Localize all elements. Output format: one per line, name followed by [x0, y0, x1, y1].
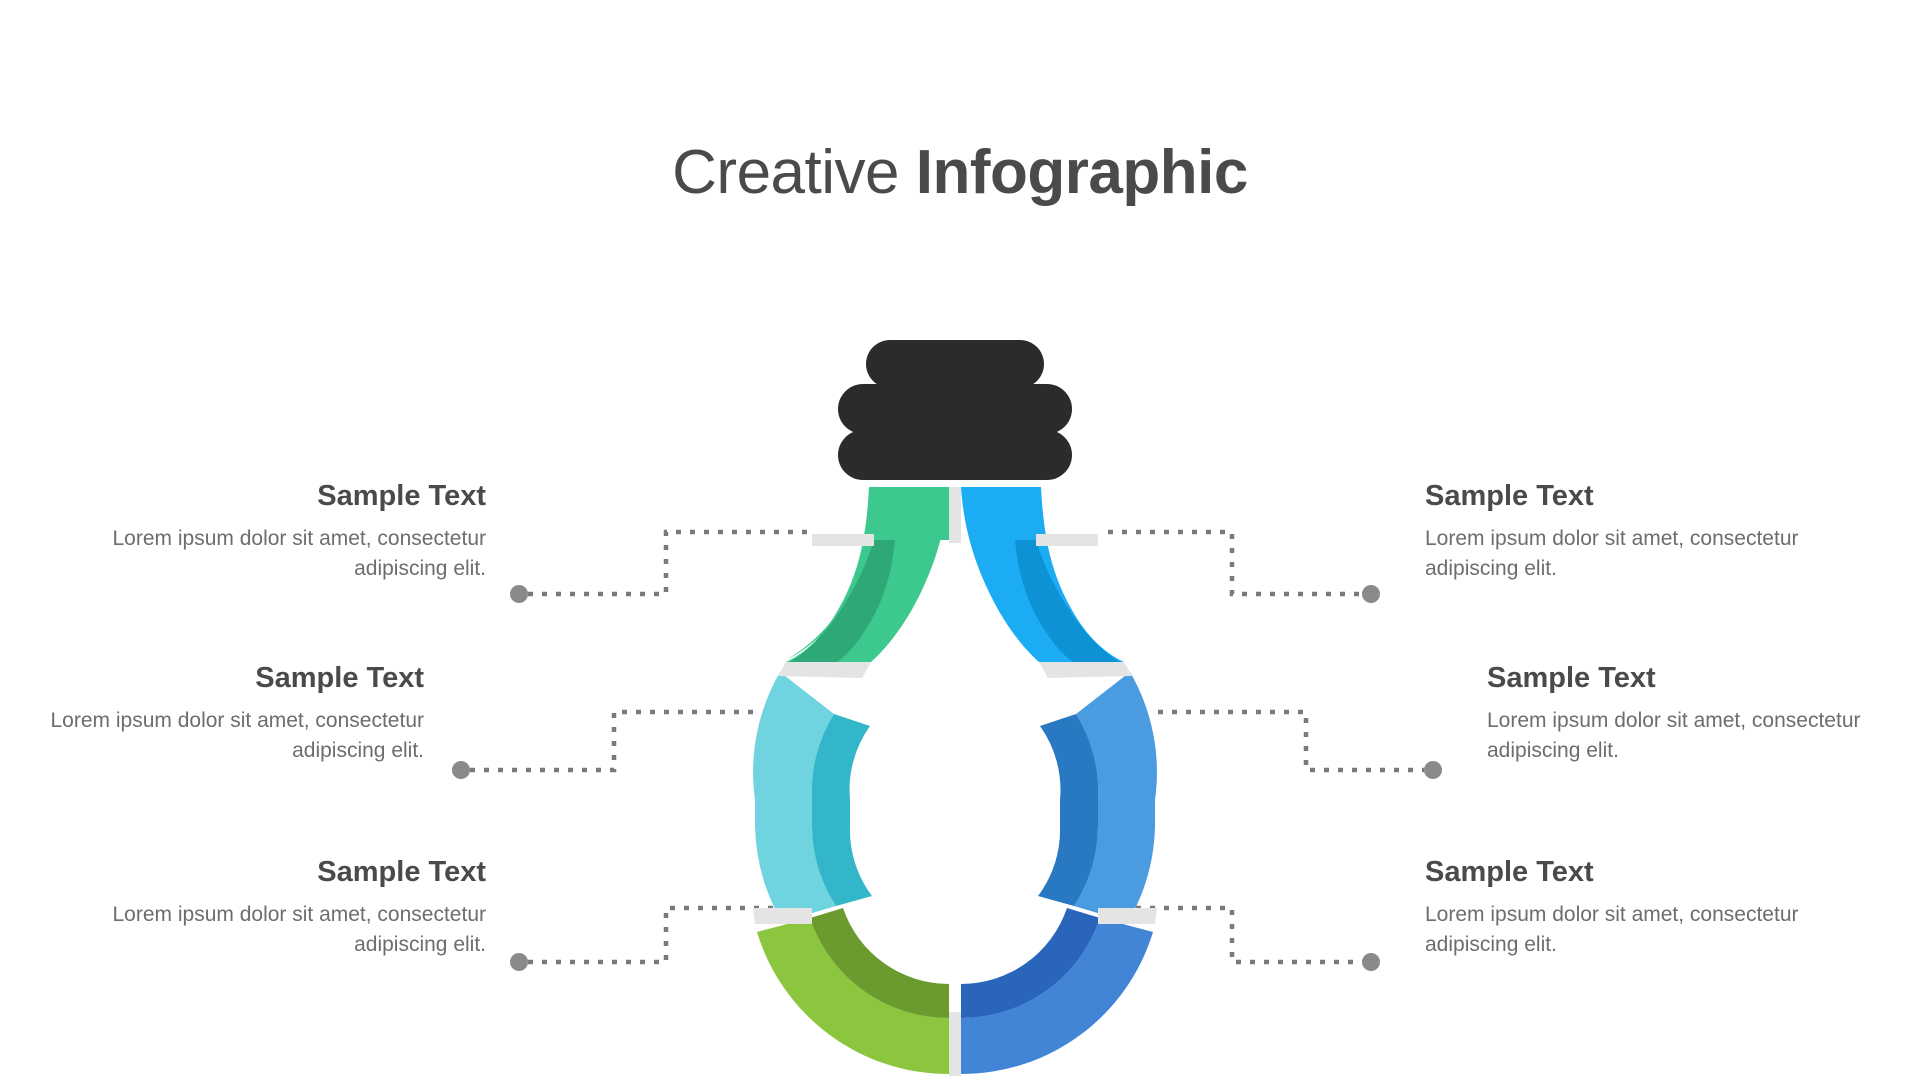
bulb-segment-top-right — [961, 487, 1124, 670]
bulb-segment-top-left — [786, 487, 949, 670]
bulb-gap-right-upper — [1039, 662, 1132, 678]
connector-left-top — [528, 532, 812, 594]
bulb-cap-bar-top — [866, 340, 1044, 388]
info-block-right-2[interactable]: Sample Text Lorem ipsum dolor sit amet, … — [1487, 660, 1907, 766]
bulb-segment-bottom-left — [757, 908, 949, 1074]
bulb-gap-shoulder-right — [812, 534, 874, 546]
bulb-gap-left-upper — [778, 662, 871, 678]
connector-dot-left-middle — [452, 761, 470, 779]
bulb-gap-neck-center — [949, 487, 961, 543]
bulb-segment-bottom-right — [961, 908, 1153, 1074]
info-block-right-2-body: Lorem ipsum dolor sit amet, consectetur … — [1487, 706, 1907, 766]
connector-lines — [470, 532, 1424, 962]
bulb-segment-middle-left — [753, 672, 872, 922]
bulb-gap-left-lower — [753, 908, 812, 924]
bulb-cap-bar-middle — [838, 384, 1072, 434]
info-block-left-2[interactable]: Sample Text Lorem ipsum dolor sit amet, … — [4, 660, 424, 766]
info-block-right-3-body: Lorem ipsum dolor sit amet, consectetur … — [1425, 900, 1845, 960]
info-block-left-3[interactable]: Sample Text Lorem ipsum dolor sit amet, … — [66, 854, 486, 960]
info-block-left-1-body: Lorem ipsum dolor sit amet, consectetur … — [66, 524, 486, 584]
bulb-gap-right-lower — [1098, 908, 1157, 924]
info-block-left-2-body: Lorem ipsum dolor sit amet, consectetur … — [4, 706, 424, 766]
info-block-right-3[interactable]: Sample Text Lorem ipsum dolor sit amet, … — [1425, 854, 1845, 960]
connector-dot-right-top — [1362, 585, 1380, 603]
info-block-right-1-heading: Sample Text — [1425, 478, 1845, 514]
info-block-left-3-heading: Sample Text — [66, 854, 486, 890]
info-block-right-2-heading: Sample Text — [1487, 660, 1907, 696]
connector-dot-right-middle — [1424, 761, 1442, 779]
connector-dot-left-bottom — [510, 953, 528, 971]
bulb-segment-middle-right — [1038, 672, 1157, 922]
bulb-gap-bottom-center — [949, 1012, 961, 1076]
connector-dots — [452, 585, 1442, 971]
bulb-cap-bar-bottom — [838, 430, 1072, 480]
info-block-left-3-body: Lorem ipsum dolor sit amet, consectetur … — [66, 900, 486, 960]
connector-left-middle — [470, 712, 762, 770]
slide-canvas: Creative Infographic — [0, 0, 1920, 1080]
bulb-segments — [753, 487, 1157, 1076]
info-block-left-1[interactable]: Sample Text Lorem ipsum dolor sit amet, … — [66, 478, 486, 584]
connector-dot-left-top — [510, 585, 528, 603]
info-block-right-1[interactable]: Sample Text Lorem ipsum dolor sit amet, … — [1425, 478, 1845, 584]
connector-dot-right-bottom — [1362, 953, 1380, 971]
info-block-right-1-body: Lorem ipsum dolor sit amet, consectetur … — [1425, 524, 1845, 584]
info-block-right-3-heading: Sample Text — [1425, 854, 1845, 890]
bulb-gap-shoulder-left — [1036, 534, 1098, 546]
info-block-left-1-heading: Sample Text — [66, 478, 486, 514]
connector-right-middle — [1158, 712, 1424, 770]
bulb-cap — [838, 340, 1072, 480]
info-block-left-2-heading: Sample Text — [4, 660, 424, 696]
connector-right-top — [1108, 532, 1362, 594]
